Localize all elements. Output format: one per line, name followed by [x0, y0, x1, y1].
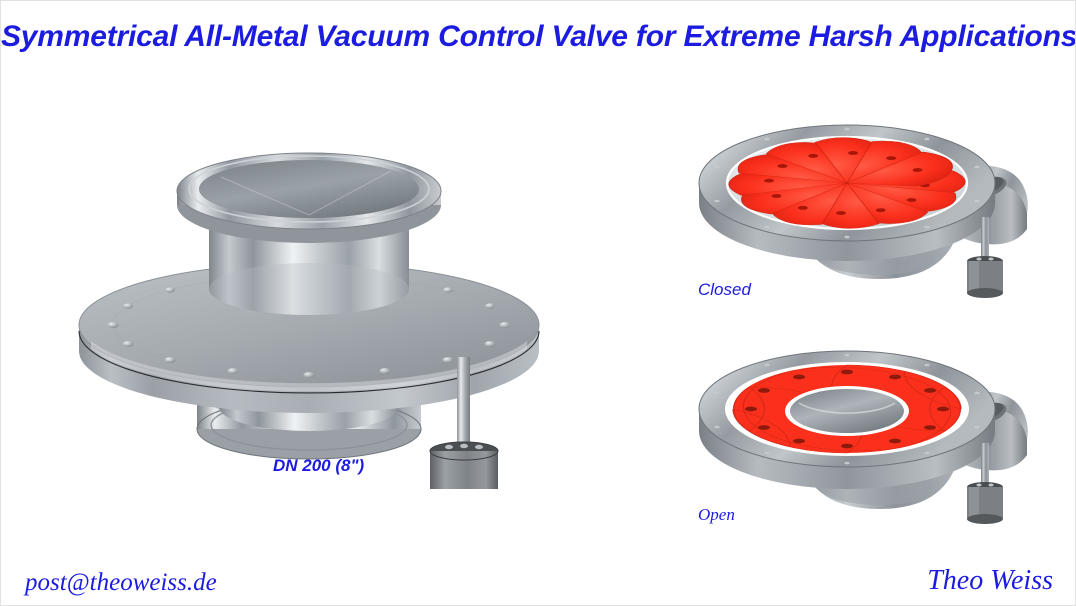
actuator-shaft: [457, 357, 470, 445]
top-flange: [177, 153, 441, 243]
open-bore: [785, 386, 909, 436]
slide-canvas: Symmetrical All-Metal Vacuum Control Val…: [0, 0, 1076, 606]
main-valve-size-label: DN 200 (8"): [273, 456, 364, 476]
author-name: Theo Weiss: [927, 565, 1053, 597]
closed-state-label: Closed: [698, 280, 751, 300]
actuator-cylinder: [430, 442, 498, 489]
main-valve-render: [61, 129, 621, 489]
closed-valve-render: [681, 109, 1071, 299]
open-valve-render: [681, 331, 1071, 526]
closed-actuator-shaft: [981, 217, 989, 261]
open-state-label: Open: [698, 505, 735, 525]
open-actuator-shaft: [981, 443, 989, 487]
page-title: Symmetrical All-Metal Vacuum Control Val…: [1, 20, 1075, 54]
contact-email[interactable]: post@theoweiss.de: [25, 569, 217, 597]
